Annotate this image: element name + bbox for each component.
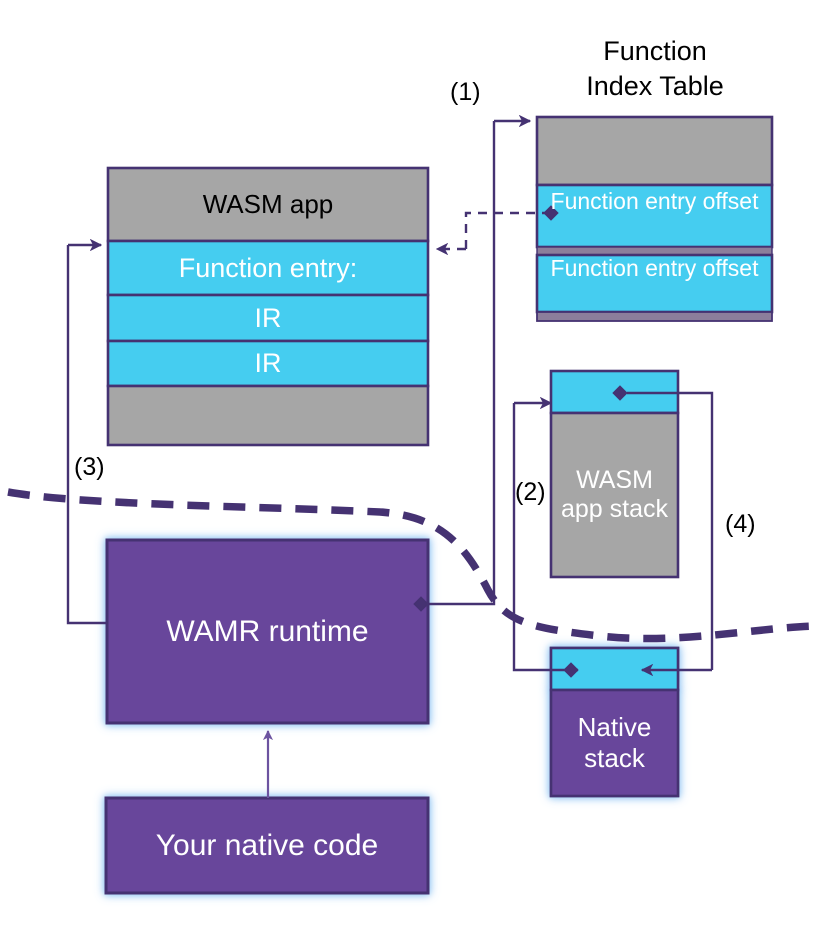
connector-step-1 <box>414 121 530 611</box>
your-native-code-block <box>106 798 428 893</box>
diagram-canvas: Function Index Table WASM app Function e… <box>0 0 819 925</box>
connector-step-3 <box>68 245 107 623</box>
diagram-vector-layer <box>0 0 819 925</box>
function-index-table-block <box>537 117 772 321</box>
wasm-app-stack-block <box>551 371 678 577</box>
wasm-app-block <box>108 168 428 445</box>
wamr-runtime-block <box>107 540 428 723</box>
